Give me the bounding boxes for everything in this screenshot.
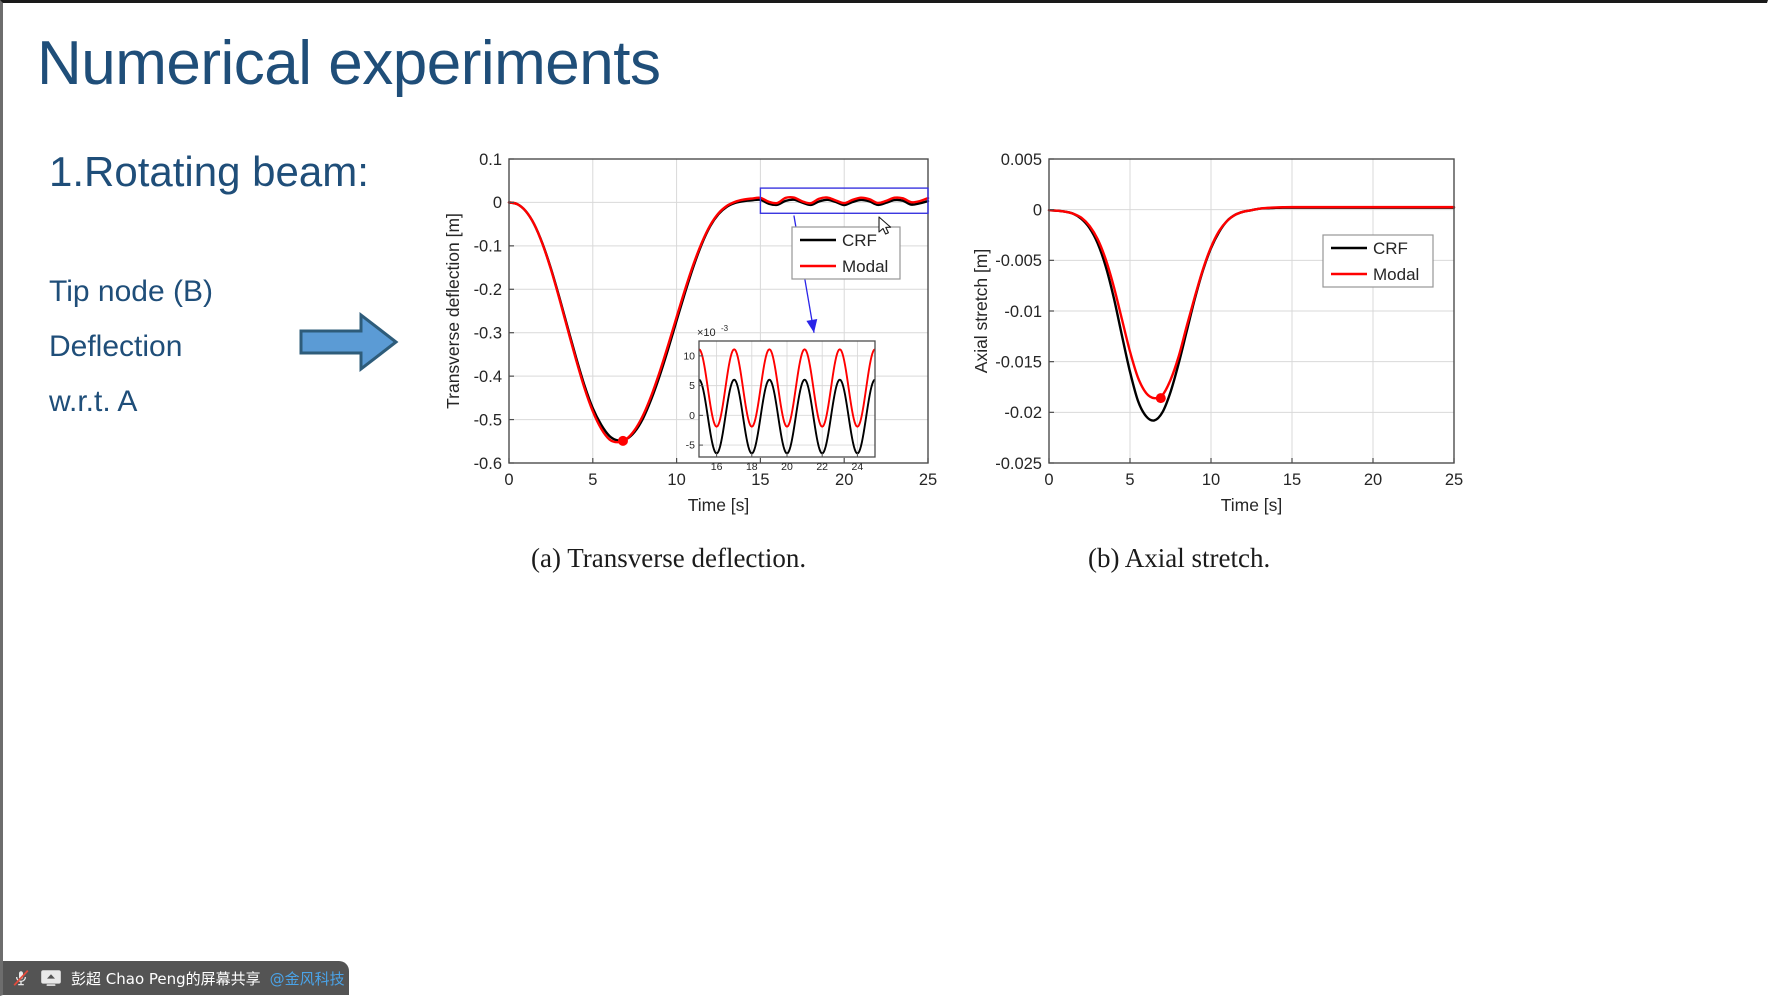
legend-label-modal: Modal: [842, 257, 888, 276]
screen-share-taskbar[interactable]: 彭超 Chao Peng的屏幕共享 @金风科技: [3, 961, 349, 995]
plot-area: 0510152025-0.025-0.02-0.015-0.01-0.00500…: [971, 151, 1463, 515]
ytick-label: 0: [1033, 201, 1042, 219]
inset-xtick-label: 20: [781, 461, 793, 473]
inset-xtick-label: 16: [711, 461, 723, 473]
microphone-muted-icon[interactable]: [11, 968, 31, 988]
xtick-label: 5: [1125, 471, 1134, 489]
figure-axial-stretch: 0510152025-0.025-0.02-0.015-0.01-0.00500…: [963, 143, 1463, 543]
figure-transverse-deflection: 0510152025-0.6-0.5-0.4-0.3-0.2-0.100.1Ti…: [437, 143, 937, 543]
inset-ytick-label: -5: [686, 440, 695, 452]
figure-a-caption: (a) Transverse deflection.: [531, 543, 806, 574]
xtick-label: 15: [1283, 471, 1301, 489]
inset-ytick-label: 10: [683, 350, 695, 362]
bullet-wrt-a: w.r.t. A: [49, 385, 137, 419]
inset-exponent-superscript: -3: [721, 324, 729, 333]
ytick-label: -0.01: [1004, 303, 1042, 321]
inset-xtick-label: 22: [816, 461, 828, 473]
xtick-label: 10: [1202, 471, 1220, 489]
ytick-label: -0.02: [1004, 404, 1042, 422]
ytick-label: 0.1: [479, 151, 502, 169]
ytick-label: -0.2: [474, 281, 502, 299]
xtick-label: 25: [1445, 471, 1463, 489]
inset-axes: 1618202224-50510×10-3: [683, 324, 875, 473]
chart-axial-stretch: 0510152025-0.025-0.02-0.015-0.01-0.00500…: [963, 143, 1463, 543]
screen-share-icon[interactable]: [40, 969, 62, 987]
xtick-label: 5: [588, 471, 597, 489]
right-arrow-shape: [299, 309, 399, 375]
ytick-label: -0.4: [474, 368, 502, 386]
ytick-label: -0.005: [995, 252, 1042, 270]
section-subheading: 1.Rotating beam:: [49, 148, 369, 196]
ytick-label: -0.015: [995, 353, 1042, 371]
legend-label-modal: Modal: [1373, 265, 1419, 284]
ytick-label: 0.005: [1001, 151, 1042, 169]
xtick-label: 20: [835, 471, 853, 489]
xtick-label: 15: [751, 471, 769, 489]
y-axis-label: Transverse deflection [m]: [443, 213, 463, 409]
ytick-label: -0.3: [474, 324, 502, 342]
inset-xtick-label: 18: [746, 461, 758, 473]
inset-ytick-label: 0: [689, 410, 695, 422]
ytick-label: -0.025: [995, 455, 1042, 473]
arrow-right-icon: [301, 315, 396, 369]
bullet-deflection: Deflection: [49, 330, 182, 364]
share-org-label: @金风科技: [270, 968, 345, 989]
inset-exponent-label: ×10: [697, 327, 716, 339]
inset-xtick-label: 24: [852, 461, 864, 473]
inset-ytick-label: 5: [689, 380, 695, 392]
legend-label-crf: CRF: [1373, 239, 1408, 258]
xtick-label: 0: [504, 471, 513, 489]
x-axis-label: Time [s]: [688, 495, 750, 515]
figure-b-caption: (b) Axial stretch.: [1088, 543, 1270, 574]
y-axis-label: Axial stretch [m]: [971, 249, 991, 373]
ytick-label: -0.5: [474, 411, 502, 429]
chart-legend: CRFModal: [1323, 235, 1433, 287]
data-point-marker: [1156, 393, 1166, 403]
chart-legend: CRFModal: [792, 227, 900, 279]
ytick-label: -0.6: [474, 455, 502, 473]
xtick-label: 20: [1364, 471, 1382, 489]
xtick-label: 10: [667, 471, 685, 489]
x-axis-label: Time [s]: [1221, 495, 1283, 515]
ytick-label: 0: [493, 194, 502, 212]
legend-label-crf: CRF: [842, 231, 877, 250]
chart-transverse-deflection: 0510152025-0.6-0.5-0.4-0.3-0.2-0.100.1Ti…: [437, 143, 937, 543]
ytick-label: -0.1: [474, 238, 502, 256]
page-title: Numerical experiments: [37, 33, 661, 95]
bullet-tip-node: Tip node (B): [49, 275, 213, 309]
data-point-marker: [618, 436, 628, 446]
xtick-label: 0: [1044, 471, 1053, 489]
share-owner-label: 彭超 Chao Peng的屏幕共享: [71, 968, 261, 989]
slide-canvas: Numerical experiments 1.Rotating beam: T…: [0, 0, 1768, 996]
xtick-label: 25: [919, 471, 937, 489]
